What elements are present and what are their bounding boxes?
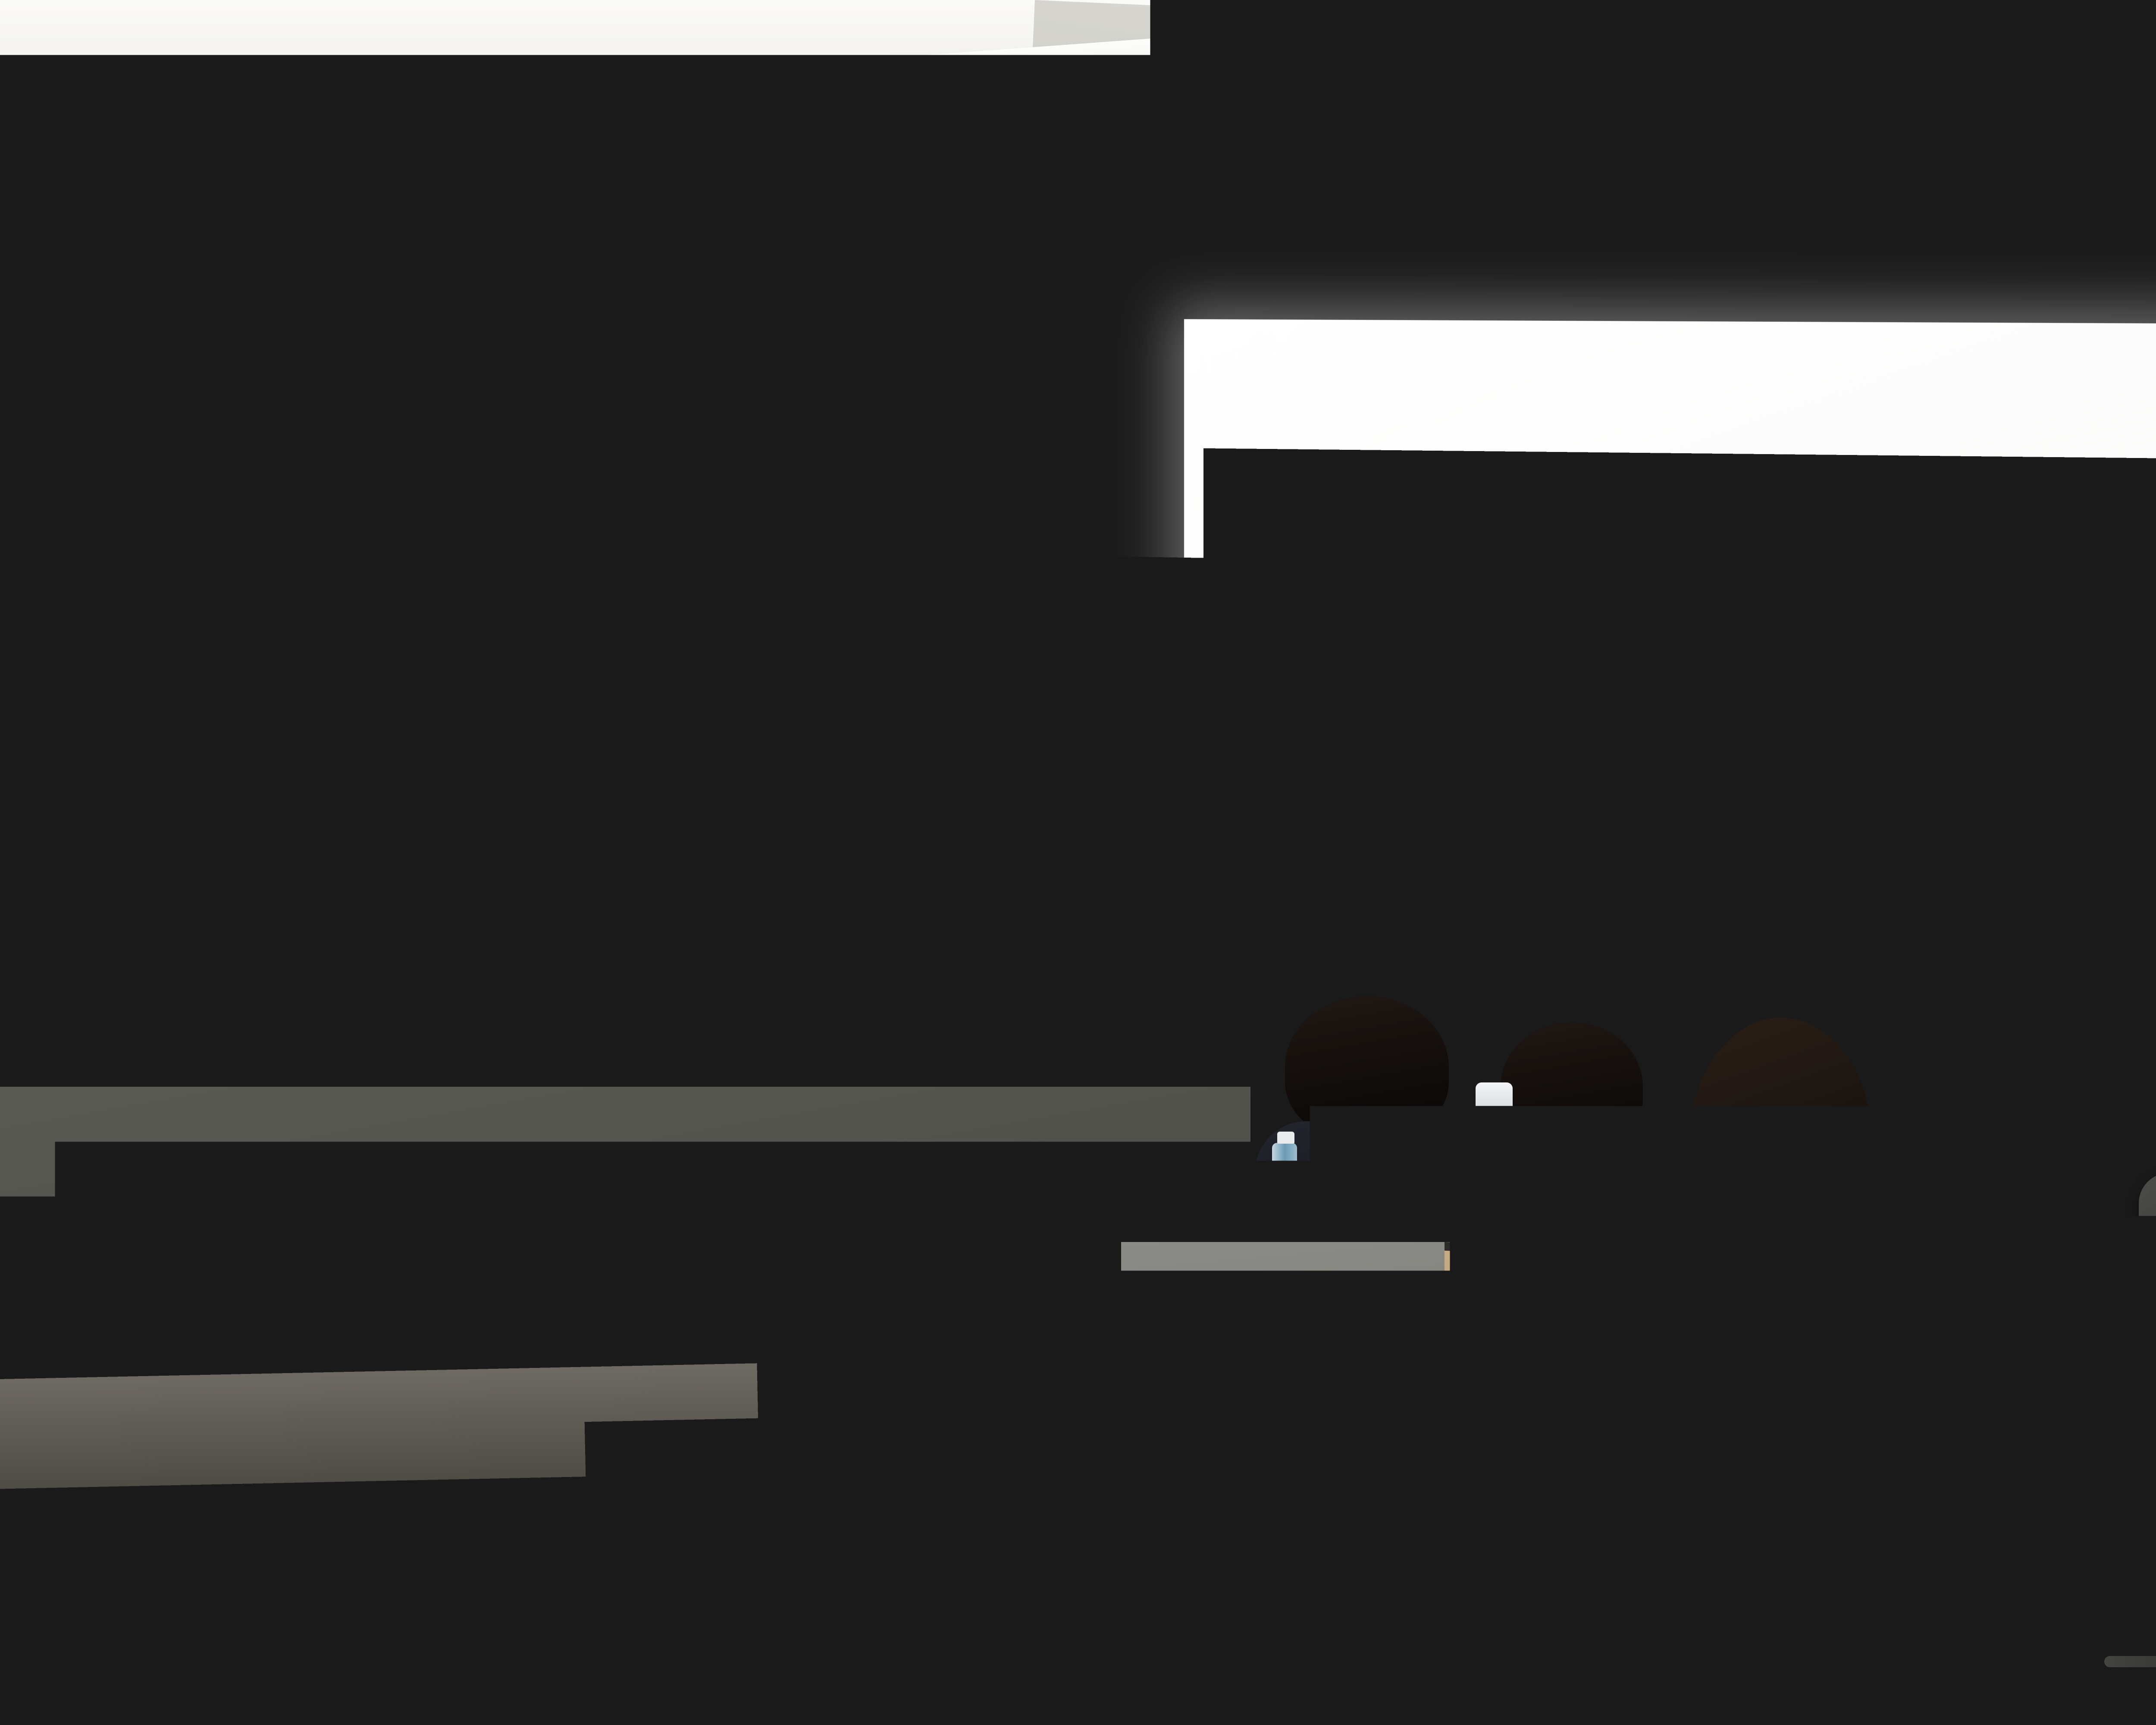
conference-room-photo: 合规、完整、明确是编制采购需求的三个基本要求 1. 合规=合法+合规 2. 完整… (0, 0, 2156, 1725)
thermos-flask (829, 841, 856, 935)
ceiling-air-vent (1217, 98, 1340, 120)
bottle-label (1272, 1170, 1297, 1207)
eyeglass-lens-right (530, 689, 561, 706)
bottle-cap (1239, 1127, 1257, 1139)
camera-mount-pole (793, 359, 811, 423)
podium-laptop (881, 852, 1026, 937)
tissue-box (612, 1130, 677, 1186)
window-blind-panel (52, 651, 181, 858)
office-chair (1708, 1285, 1984, 1682)
slide-title-row: 合规、完整、明确是编制采购需求的三个基本要求 (1253, 527, 2156, 612)
audience-member-masked (1483, 1022, 1664, 1393)
bottle-label (962, 1243, 986, 1280)
bottle-label (1234, 1165, 1259, 1202)
bottle-label (553, 1312, 580, 1349)
office-chair (362, 1069, 543, 1337)
slide-title: 合规、完整、明确是编制采购需求的三个基本要求 (1284, 527, 2156, 611)
audience-head (1501, 1022, 1643, 1151)
smoke-detector-body (1653, 22, 1693, 49)
dome-camera-ir-led (312, 361, 319, 367)
list-item: 3. 明确=准确、明了、客观、细化、科学、有效，实现采购目标和物有所值 (1313, 904, 2156, 984)
dome-camera-icon (290, 328, 347, 385)
bullet-point-icon (1253, 549, 1264, 561)
bottle-cap (1277, 1132, 1294, 1144)
water-bottle (553, 1285, 580, 1371)
audience-head (1285, 996, 1449, 1138)
bottle-cap (967, 1205, 984, 1217)
face-mask (1476, 1082, 1513, 1117)
ceiling-air-vent (1722, 57, 1826, 78)
list-item-text: 合规=合法+合规 (1354, 793, 1553, 834)
list-item-text: 完整=技术、方案、资质、标准、质量，市场调查、研究论证 (1354, 850, 2110, 908)
smoke-detector-vent (1664, 50, 1682, 54)
eyeglass-bridge (517, 695, 530, 697)
letterbox-bar (0, 1656, 2156, 1725)
list-item-number: 1. (1313, 793, 1354, 829)
camera-lens-icon (773, 447, 800, 473)
water-bottle (1272, 1143, 1297, 1216)
water-bottle (1234, 1138, 1259, 1212)
dome-camera-lens (301, 341, 336, 376)
office-chair (0, 1182, 155, 1423)
list-item-number: 2. (1313, 848, 1354, 884)
water-bottle (795, 867, 821, 936)
water-bottle (962, 1216, 986, 1285)
slide-numbered-list: 1. 合规=合法+合规 2. 完整=技术、方案、资质、标准、质量，市场调查、研究… (1313, 793, 2156, 1006)
list-item-text: 明确=准确、明了、客观、细化、科学、有效，实现采购目标和物有所值 (1354, 906, 2156, 971)
wall-mounted-device (511, 440, 542, 526)
eyeglasses-icon (486, 689, 561, 706)
list-item-number: 3. (1313, 904, 1354, 941)
eyeglass-lens-left (486, 689, 517, 706)
audience-head (1026, 1069, 1199, 1225)
audience-member (1268, 996, 1466, 1384)
smoke-detector-icon (1650, 22, 1696, 64)
dome-camera-ir-led (323, 361, 329, 367)
